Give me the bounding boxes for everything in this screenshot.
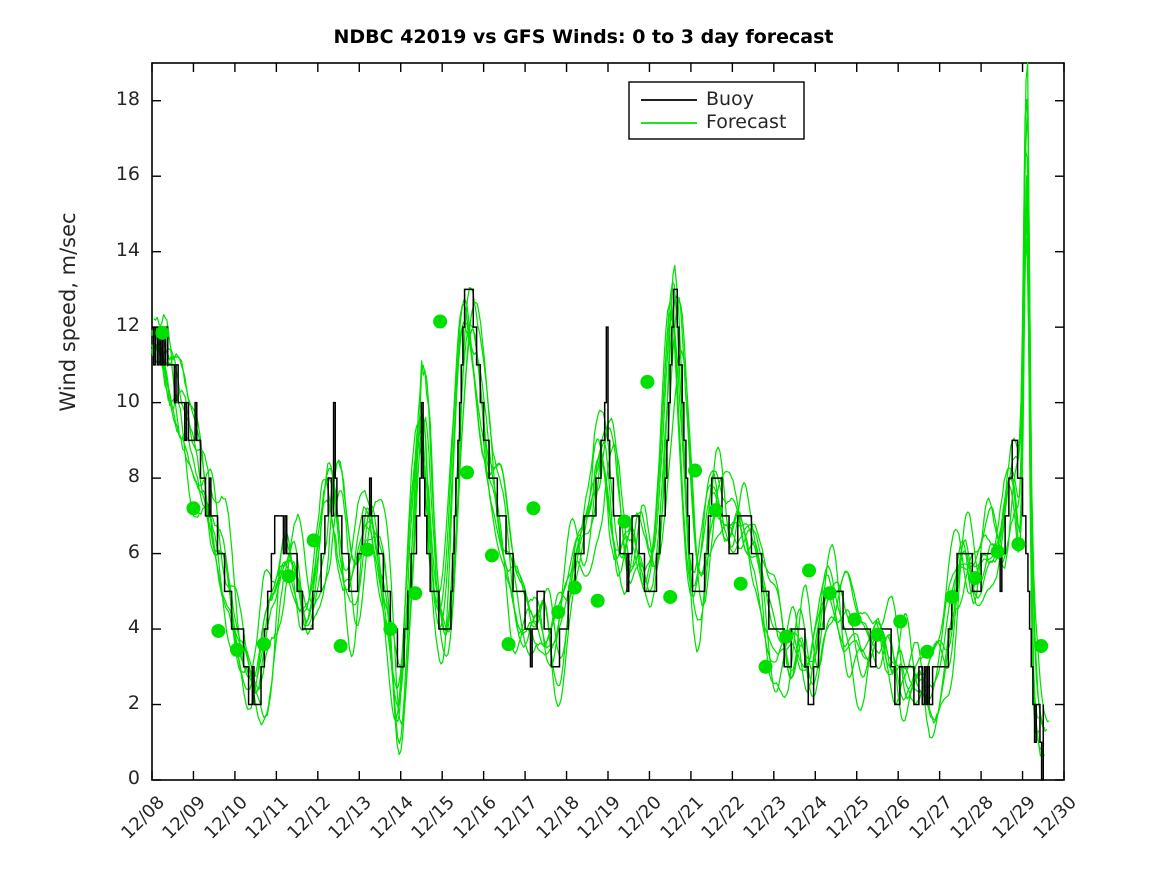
forecast-marker-dot	[568, 581, 581, 594]
forecast-marker-dot	[894, 615, 907, 628]
forecast-marker-dot	[307, 534, 320, 547]
forecast-marker-dot	[409, 587, 422, 600]
legend-label-forecast: Forecast	[706, 111, 786, 133]
chart-figure: NDBC 42019 vs GFS Winds: 0 to 3 day fore…	[0, 0, 1167, 875]
y-tick-label: 14	[100, 239, 140, 261]
y-tick-label: 8	[100, 465, 140, 487]
forecast-marker-dot	[709, 504, 722, 517]
y-tick-label: 2	[100, 692, 140, 714]
forecast-marker-dot	[527, 502, 540, 515]
y-tick-label: 6	[100, 541, 140, 563]
forecast-marker-dot	[759, 660, 772, 673]
forecast-marker-dot	[257, 638, 270, 651]
forecast-marker-dot	[485, 549, 498, 562]
forecast-marker-dot	[803, 564, 816, 577]
forecast-marker-dot	[921, 645, 934, 658]
forecast-marker-dot	[334, 640, 347, 653]
forecast-marker-dot	[591, 594, 604, 607]
forecast-marker-dot	[434, 315, 447, 328]
forecast-marker-dot	[734, 577, 747, 590]
plot-canvas	[0, 0, 1167, 875]
forecast-marker-dot	[461, 466, 474, 479]
forecast-marker-dot	[230, 643, 243, 656]
forecast-marker-dot	[187, 502, 200, 515]
y-tick-label: 16	[100, 163, 140, 185]
forecast-marker-dot	[823, 587, 836, 600]
legend-label-buoy: Buoy	[706, 88, 754, 110]
forecast-marker-dot	[502, 638, 515, 651]
y-tick-label: 4	[100, 616, 140, 638]
forecast-marker-dot	[991, 545, 1004, 558]
forecast-marker-dot	[689, 464, 702, 477]
forecast-marker-dot	[1012, 538, 1025, 551]
forecast-marker-dot	[946, 590, 959, 603]
forecast-marker-dot	[968, 572, 981, 585]
forecast-marker-dot	[552, 606, 565, 619]
forecast-marker-dot	[641, 375, 654, 388]
forecast-marker-dot	[780, 630, 793, 643]
forecast-marker-dot	[664, 590, 677, 603]
forecast-marker-dot	[618, 515, 631, 528]
y-tick-label: 0	[100, 767, 140, 789]
forecast-marker-dot	[384, 623, 397, 636]
y-tick-label: 10	[100, 390, 140, 412]
forecast-marker-dot	[156, 326, 169, 339]
forecast-marker-dot	[212, 624, 225, 637]
y-tick-label: 18	[100, 88, 140, 110]
forecast-marker-dot	[282, 570, 295, 583]
y-tick-label: 12	[100, 314, 140, 336]
forecast-marker-dot	[1035, 640, 1048, 653]
forecast-marker-dot	[361, 543, 374, 556]
forecast-marker-dot	[848, 613, 861, 626]
forecast-marker-dot	[871, 628, 884, 641]
